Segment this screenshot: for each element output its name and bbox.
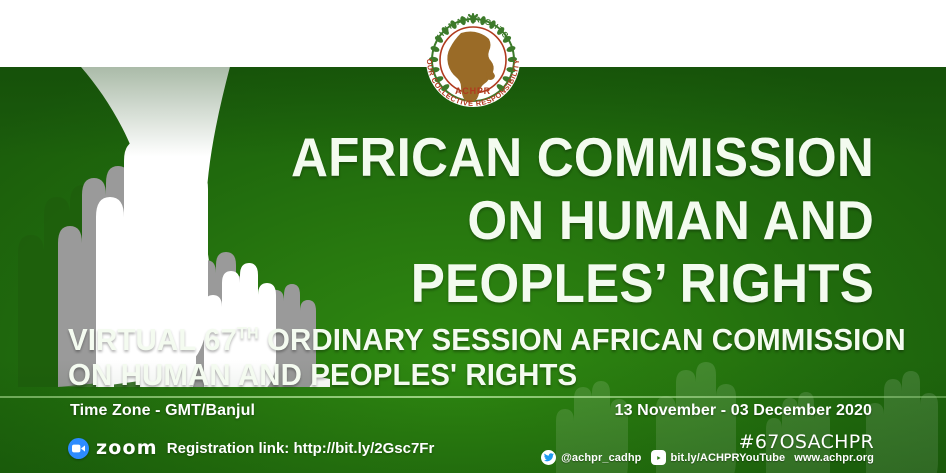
session-suffix: ORDINARY SESSION AFRICAN COMMISSION — [259, 322, 906, 357]
twitter-icon — [541, 450, 556, 465]
timezone-label: Time Zone - GMT/Banjul — [70, 402, 255, 420]
page-title: AFRICAN COMMISSION ON HUMAN AND PEOPLES’… — [279, 126, 874, 315]
logo-center-text: ACHPR — [455, 86, 491, 96]
session-prefix: VIRTUAL 67 — [68, 322, 237, 357]
session-line-2: ON HUMAN AND PEOPLES' RIGHTS — [68, 357, 857, 392]
twitter-handle[interactable]: @achpr_cadhp — [561, 452, 641, 464]
session-dates: 13 November - 03 December 2020 — [615, 402, 872, 420]
zoom-camera-icon — [68, 438, 89, 459]
title-line-3: PEOPLES’ RIGHTS — [279, 252, 874, 315]
website-link[interactable]: www.achpr.org — [794, 452, 874, 464]
session-line-1: VIRTUAL 67TH ORDINARY SESSION AFRICAN CO… — [68, 322, 857, 357]
zoom-registration-row[interactable]: zoom Registration link: http://bit.ly/2G… — [68, 437, 434, 459]
session-subtitle: VIRTUAL 67TH ORDINARY SESSION AFRICAN CO… — [68, 322, 857, 392]
zoom-registration-link[interactable]: Registration link: http://bit.ly/2Gsc7Fr — [167, 440, 435, 457]
youtube-handle[interactable]: bit.ly/ACHPRYouTube — [671, 452, 786, 464]
title-line-2: ON HUMAN AND — [279, 189, 874, 252]
social-links[interactable]: @achpr_cadhp bit.ly/ACHPRYouTube www.ach… — [541, 450, 874, 465]
zoom-wordmark: zoom — [96, 437, 158, 459]
twitter-link[interactable]: @achpr_cadhp — [541, 450, 641, 465]
footer-divider — [0, 396, 946, 398]
achpr-logo: HUMAN RIGHTS OUR COLLECTIVE RESPONSIBILI… — [417, 2, 529, 114]
youtube-link[interactable]: bit.ly/ACHPRYouTube — [651, 450, 786, 465]
title-line-1: AFRICAN COMMISSION — [279, 126, 874, 189]
session-ordinal-suffix: TH — [237, 324, 259, 343]
youtube-icon — [651, 450, 666, 465]
achpr-session-banner: HUMAN RIGHTS OUR COLLECTIVE RESPONSIBILI… — [0, 0, 946, 473]
